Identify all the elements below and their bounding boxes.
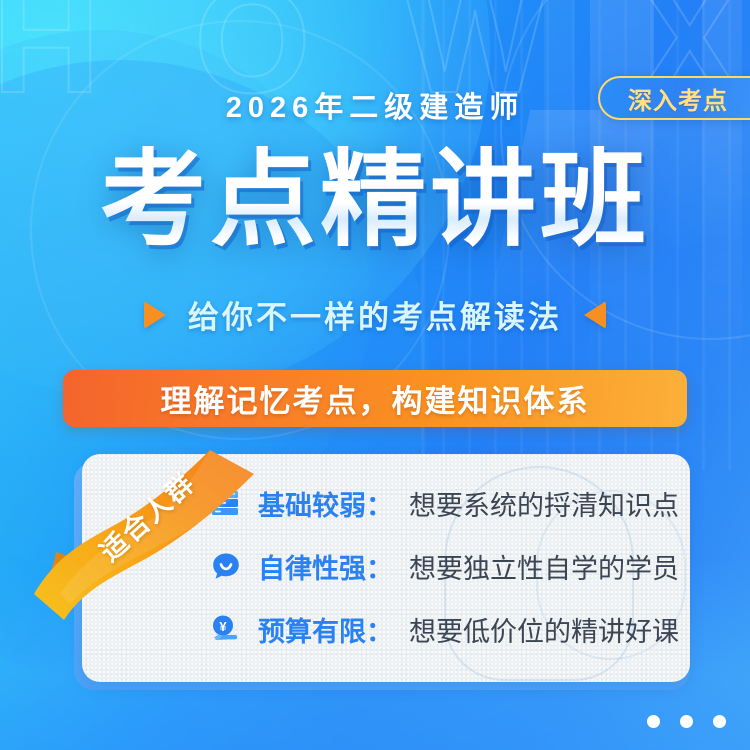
orange-highlight-banner: 理解记忆考点，构建知识体系 <box>63 370 687 427</box>
orange-banner-text: 理解记忆考点，构建知识体系 <box>161 376 590 421</box>
list-item-label: 自律性强： <box>258 547 393 586</box>
triangle-left-icon <box>584 301 606 329</box>
list-item: 基础较弱： 想要系统的捋清知识点 <box>210 484 679 522</box>
audience-list: 基础较弱： 想要系统的捋清知识点 自律性强： 想要独立性自学的学员 ¥ <box>210 484 679 648</box>
list-item-desc: 想要独立性自学的学员 <box>409 547 679 586</box>
page-title: 考点精讲班 <box>100 146 650 254</box>
list-item-label: 预算有限： <box>258 610 393 649</box>
list-item: ¥ 预算有限： 想要低价位的精讲好课 <box>210 610 679 648</box>
eyebrow-text: 2026年二级建造师 <box>0 84 750 126</box>
subtitle-text: 给你不一样的考点解读法 <box>188 292 562 337</box>
triangle-right-icon <box>144 301 166 329</box>
promotional-poster: H O W X 深入考点 2026年二级建造师 考点精讲班 给你不一样的考点解读… <box>0 0 750 750</box>
list-item-desc: 想要低价位的精讲好课 <box>409 610 679 649</box>
list-item: 自律性强： 想要独立性自学的学员 <box>210 547 679 585</box>
audience-ribbon: 适合人群 <box>34 444 254 634</box>
subtitle-row: 给你不一样的考点解读法 <box>0 292 750 337</box>
list-item-desc: 想要系统的捋清知识点 <box>409 484 679 523</box>
pagination-dot[interactable] <box>647 715 660 728</box>
pagination-dots[interactable] <box>647 715 726 728</box>
pagination-dot[interactable] <box>680 715 693 728</box>
list-item-label: 基础较弱： <box>258 484 393 523</box>
title-container: 考点精讲班 <box>0 146 750 254</box>
pagination-dot[interactable] <box>713 715 726 728</box>
